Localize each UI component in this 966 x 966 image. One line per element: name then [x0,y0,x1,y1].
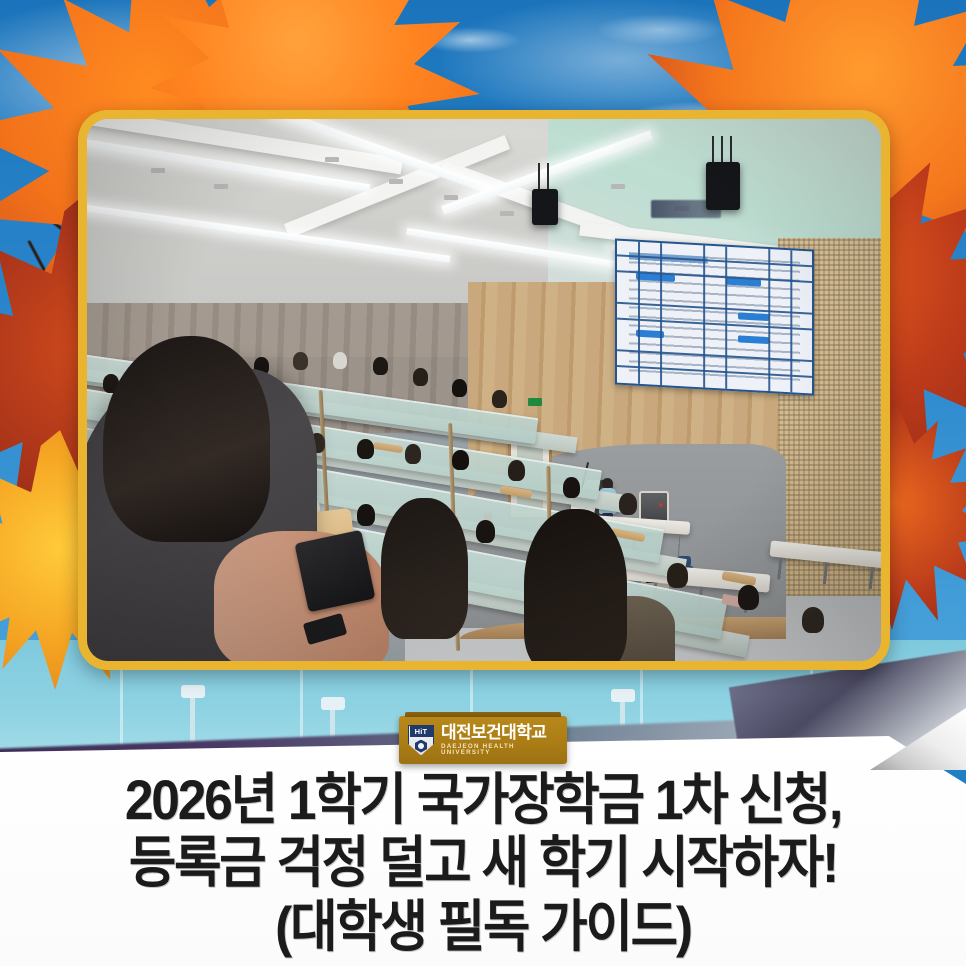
logo-text-block: 대전보건대학교 DAEJEON HEALTH UNIVERSITY [441,724,559,756]
poster-headline: 2026년 1학기 국가장학금 1차 신청, 등록금 걱정 덜고 새 학기 시작… [0,768,966,960]
university-name-en: DAEJEON HEALTH UNIVERSITY [441,744,559,756]
lecture-hall-photo-card [78,110,890,670]
headline-line-2: 등록금 걱정 덜고 새 학기 시작하자! [39,832,928,894]
headline-line-1: 2026년 1학기 국가장학금 1차 신청, [39,768,928,832]
hit-shield-icon: HiT [408,725,434,756]
shield-monogram: HiT [410,726,433,737]
university-logo-badge: HiT 대전보건대학교 DAEJEON HEALTH UNIVERSITY [399,716,567,764]
lecture-hall-photo [87,119,881,661]
headline-line-3: (대학생 필독 가이드) [39,894,928,960]
photo-vignette [87,119,881,661]
university-name-kr: 대전보건대학교 [441,724,559,741]
